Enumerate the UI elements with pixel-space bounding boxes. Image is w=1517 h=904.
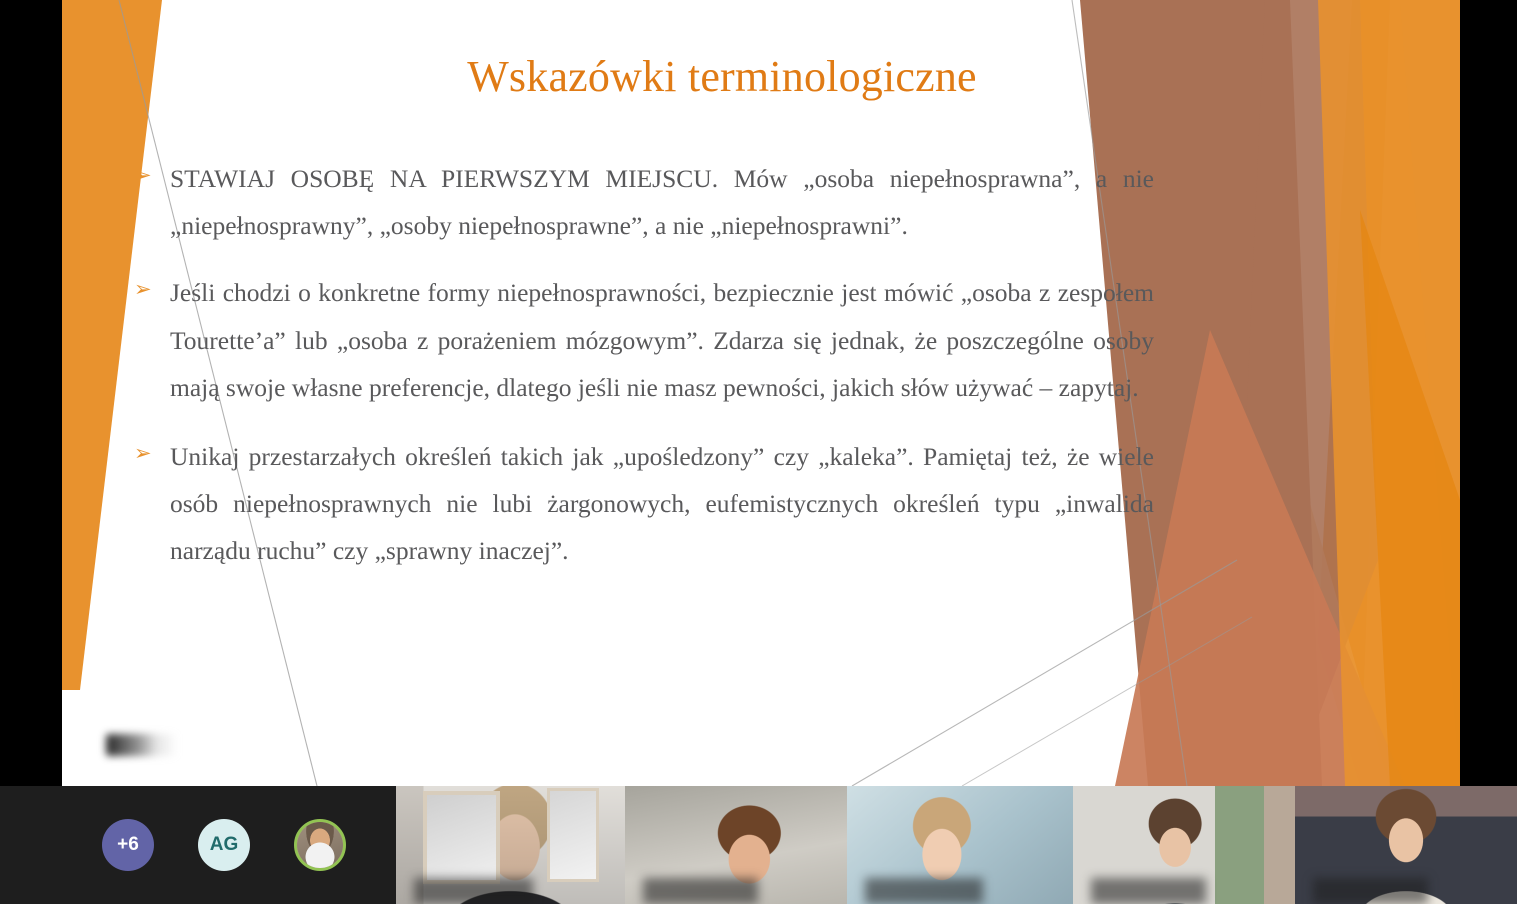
participant-initials-avatar[interactable]: AG (198, 819, 250, 871)
participant-video-tile[interactable] (1073, 786, 1295, 904)
slide-title: Wskazówki terminologiczne (222, 51, 1222, 104)
participant-name-label (1091, 878, 1206, 904)
avatar-group: +6 AG (0, 786, 396, 904)
chevron-bullet-icon: ➢ (134, 269, 170, 306)
bullet-item: ➢ Jeśli chodzi o konkretne formy niepełn… (134, 269, 1154, 411)
participant-video-tile[interactable] (625, 786, 847, 904)
participant-video-tile[interactable] (847, 786, 1073, 904)
participant-photo-avatar[interactable] (294, 819, 346, 871)
slide-body: ➢ STAWIAJ OSOBĘ NA PIERWSZYM MIEJSCU. Mó… (134, 155, 1154, 574)
participant-name-label (1313, 878, 1428, 904)
avatar-photo (297, 822, 343, 868)
participant-filmstrip: +6 AG (0, 786, 1517, 904)
faded-slide-control-overlay[interactable] (106, 734, 178, 756)
background-picture-frame (547, 788, 599, 881)
participant-name-label (414, 878, 533, 904)
participant-name-label (643, 878, 758, 904)
participant-video-tile[interactable] (396, 786, 625, 904)
meeting-window: Wskazówki terminologiczne ➢ STAWIAJ OSOB… (0, 0, 1517, 904)
shared-content-stage: Wskazówki terminologiczne ➢ STAWIAJ OSOB… (0, 0, 1517, 786)
more-participants-badge[interactable]: +6 (102, 819, 154, 871)
background-picture-frame (423, 791, 500, 884)
presentation-slide[interactable]: Wskazówki terminologiczne ➢ STAWIAJ OSOB… (62, 0, 1460, 786)
bullet-text: STAWIAJ OSOBĘ NA PIERWSZYM MIEJSCU. Mów … (170, 155, 1154, 249)
bullet-item: ➢ Unikaj przestarzałych określeń takich … (134, 433, 1154, 575)
bullet-text: Jeśli chodzi o konkretne formy niepełnos… (170, 269, 1154, 411)
bullet-item: ➢ STAWIAJ OSOBĘ NA PIERWSZYM MIEJSCU. Mó… (134, 155, 1154, 249)
participant-video-tile[interactable] (1295, 786, 1517, 904)
bullet-text: Unikaj przestarzałych określeń takich ja… (170, 433, 1154, 575)
participant-name-label (865, 878, 983, 904)
chevron-bullet-icon: ➢ (134, 433, 170, 470)
chevron-bullet-icon: ➢ (134, 155, 170, 192)
